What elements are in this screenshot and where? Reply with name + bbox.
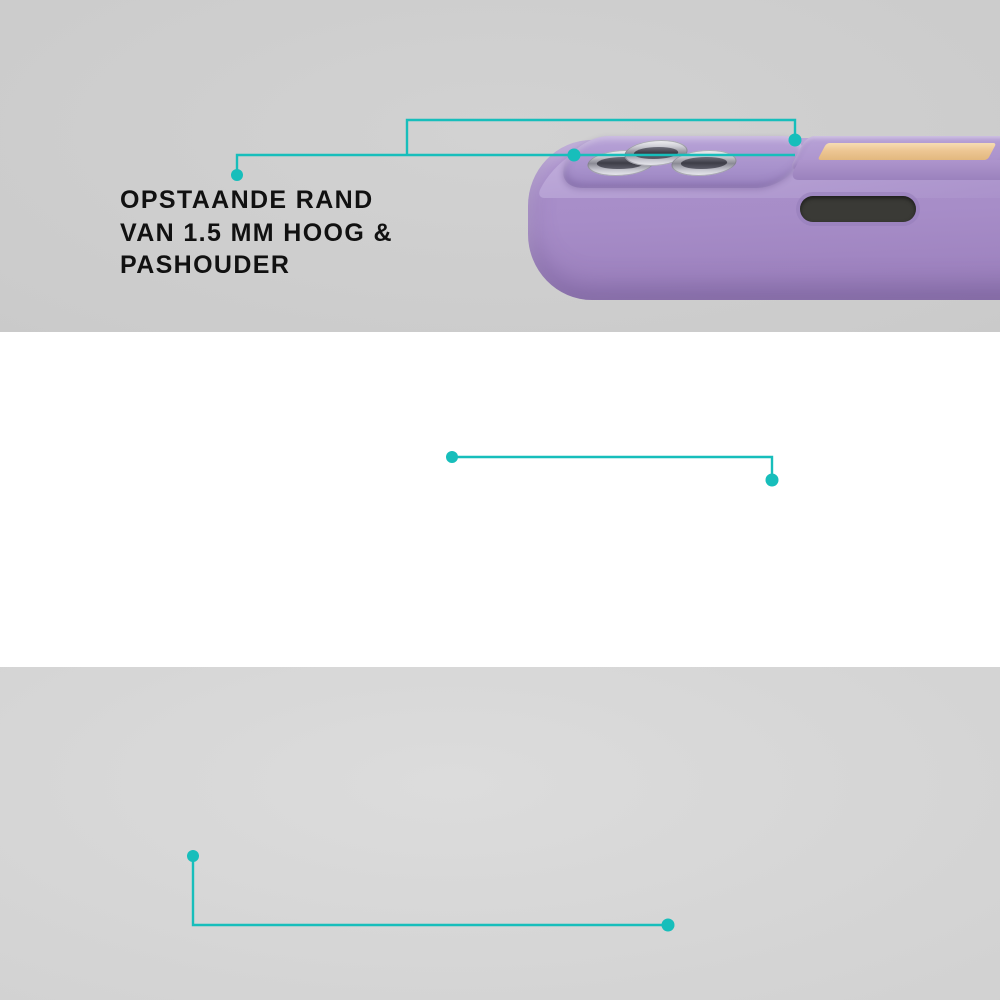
- side-button-cutout: [800, 196, 916, 222]
- leader-line-panel-3: [0, 667, 1000, 1000]
- leader-dot-text-anchor: [231, 169, 243, 181]
- leader-dot-text-anchor: [187, 850, 199, 862]
- panel-raised-edge-1mm: OPSTAANDE RAND VAN 1 MM HOOG: [0, 332, 1000, 667]
- infographic-page: OPSTAANDE RAND VAN 1.5 MM HOOG & PASHOUD…: [0, 0, 1000, 1000]
- leader-dot-text-anchor: [766, 474, 779, 487]
- inserted-card: [817, 143, 996, 160]
- panel-raised-edge-and-card-holder: OPSTAANDE RAND VAN 1.5 MM HOOG & PASHOUD…: [0, 0, 1000, 332]
- panel-flexible-silicone: FLEXIBELE SILICONE BEHUIZING: [0, 667, 1000, 1000]
- leader-dot-screen-lip: [446, 451, 458, 463]
- card-holder-lip: [789, 160, 1000, 180]
- leader-line-panel-2: [0, 332, 1000, 667]
- callout-text-raised-edge-card-holder: OPSTAANDE RAND VAN 1.5 MM HOOG & PASHOUD…: [120, 184, 393, 282]
- leader-dot-silicone-body: [662, 919, 675, 932]
